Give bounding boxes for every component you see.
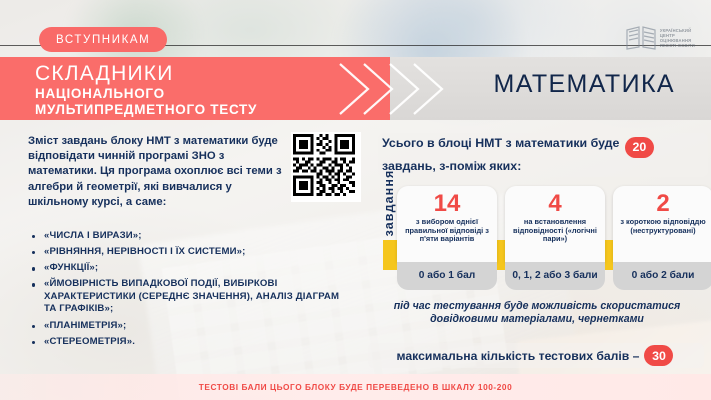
list-item: «ЧИСЛА І ВИРАЗИ»; [30, 230, 350, 243]
open-book-icon [626, 26, 656, 50]
logo-text-line-4: ЯКОСТІ ОСВІТИ [660, 43, 695, 48]
tasks-vertical-label: завдання [382, 166, 396, 240]
task-card-description: на встановлення відповідності («логічні … [509, 218, 601, 244]
task-card-body: 14 з вибором однієї правильної відповіді… [397, 186, 497, 262]
task-type-cards: 14 з вибором однієї правильної відповіді… [383, 186, 705, 290]
footer-text: ТЕСТОВІ БАЛИ ЦЬОГО БЛОКУ БУДЕ ПЕРЕВЕДЕНО… [199, 382, 512, 392]
tasks-heading-after: завдань, з-поміж яких: [382, 159, 521, 173]
audience-badge: ВСТУПНИКАМ [39, 27, 167, 52]
slide-title-line-3: МУЛЬТИПРЕДМЕТНОГО ТЕСТУ [35, 102, 257, 118]
qr-code[interactable] [291, 132, 361, 202]
tasks-heading: Усього в блоці НМТ з математики буде 20 … [378, 133, 708, 177]
infographic-slide: ВСТУПНИКАМ УКРАЇНСЬКИЙ ЦЕНТР ОЦІНЮВАННЯ … [0, 0, 711, 400]
qr-code-image [293, 134, 355, 196]
logo-text: УКРАЇНСЬКИЙ ЦЕНТР ОЦІНЮВАННЯ ЯКОСТІ ОСВІ… [660, 28, 695, 49]
max-score-line: максимальна кількість тестових балів – 3… [368, 343, 704, 368]
slide-title-line-1: СКЛАДНИКИ [35, 61, 257, 86]
double-chevron-icon [334, 56, 449, 122]
tasks-heading-before: Усього в блоці НМТ з математики буде [382, 136, 619, 150]
uceqa-logo: УКРАЇНСЬКИЙ ЦЕНТР ОЦІНЮВАННЯ ЯКОСТІ ОСВІ… [626, 26, 695, 50]
list-item: «ПЛАНІМЕТРІЯ»; [30, 320, 350, 333]
max-score-label: максимальна кількість тестових балів – [397, 349, 640, 363]
subject-title: МАТЕМАТИКА [493, 70, 675, 99]
task-card-description: з вибором однієї правильної відповіді з … [401, 218, 493, 244]
intro-paragraph: Зміст завдань блоку НМТ з математики буд… [28, 134, 288, 210]
task-card-score: 0 або 1 бал [397, 262, 497, 290]
list-item: «РІВНЯННЯ, НЕРІВНОСТІ І ЇХ СИСТЕМИ»; [30, 246, 350, 259]
list-item: «ЙМОВІРНІСТЬ ВИПАДКОВОЇ ПОДІЇ, ВИБІРКОВІ… [30, 278, 350, 316]
list-item: «СТЕРЕОМЕТРІЯ». [30, 336, 350, 349]
task-card-description: з короткою відповіддю (неструктуровані) [617, 218, 709, 235]
max-score-badge: 30 [644, 345, 673, 366]
task-card: 14 з вибором однієї правильної відповіді… [397, 186, 497, 290]
topics-list: «ЧИСЛА І ВИРАЗИ»; «РІВНЯННЯ, НЕРІВНОСТІ … [30, 230, 350, 352]
testing-note: під час тестування буде можливість скори… [372, 300, 702, 326]
task-card: 2 з короткою відповіддю (неструктуровані… [613, 186, 711, 290]
list-item: «ФУНКЦІЇ»; [30, 262, 350, 275]
task-card-body: 4 на встановлення відповідності («логічн… [505, 186, 605, 262]
task-card-body: 2 з короткою відповіддю (неструктуровані… [613, 186, 711, 262]
task-card-count: 4 [548, 191, 561, 216]
task-card-score: 0 або 2 бали [613, 262, 711, 290]
task-card: 4 на встановлення відповідності («логічн… [505, 186, 605, 290]
task-card-count: 14 [434, 191, 461, 216]
tasks-total-badge: 20 [625, 137, 654, 158]
slide-title: СКЛАДНИКИ НАЦІОНАЛЬНОГО МУЛЬТИПРЕДМЕТНОГ… [35, 61, 257, 118]
task-card-count: 2 [656, 191, 669, 216]
footer-banner: ТЕСТОВІ БАЛИ ЦЬОГО БЛОКУ БУДЕ ПЕРЕВЕДЕНО… [0, 374, 711, 400]
task-card-score: 0, 1, 2 або 3 бали [505, 262, 605, 290]
slide-title-line-2: НАЦІОНАЛЬНОГО [35, 86, 257, 102]
